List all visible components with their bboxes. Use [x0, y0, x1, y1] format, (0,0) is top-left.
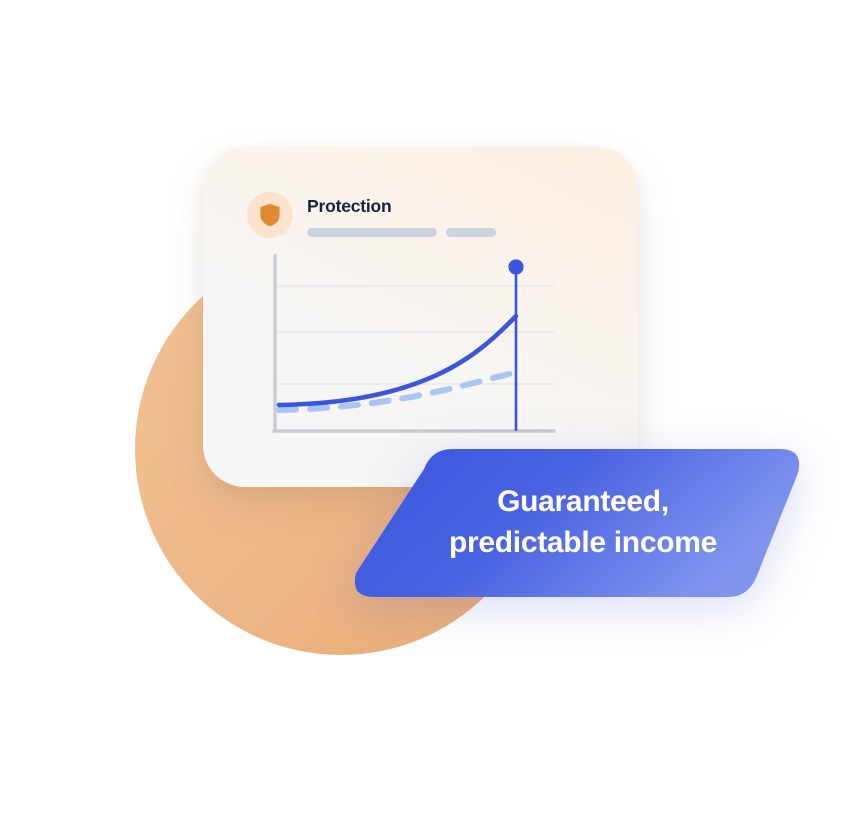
protection-card[interactable]: Protection [203, 147, 638, 487]
card-header: Protection [247, 191, 602, 238]
shield-icon-badge [247, 192, 293, 238]
card-header-text: Protection [307, 191, 602, 237]
growth-chart [265, 254, 557, 444]
shield-icon [259, 203, 281, 227]
banner-label: Guaranteed, predictable income [348, 447, 806, 599]
end-point-marker [508, 259, 523, 431]
illustration-canvas: Protection [0, 0, 852, 827]
skeleton-bar-long [307, 228, 437, 237]
skeleton-row [307, 228, 602, 237]
chart-gridlines [275, 286, 554, 384]
chart-series-guaranteed [279, 316, 516, 405]
skeleton-bar-short [446, 228, 496, 237]
guaranteed-income-banner[interactable]: Guaranteed, predictable income [348, 447, 806, 599]
card-title: Protection [307, 198, 602, 216]
